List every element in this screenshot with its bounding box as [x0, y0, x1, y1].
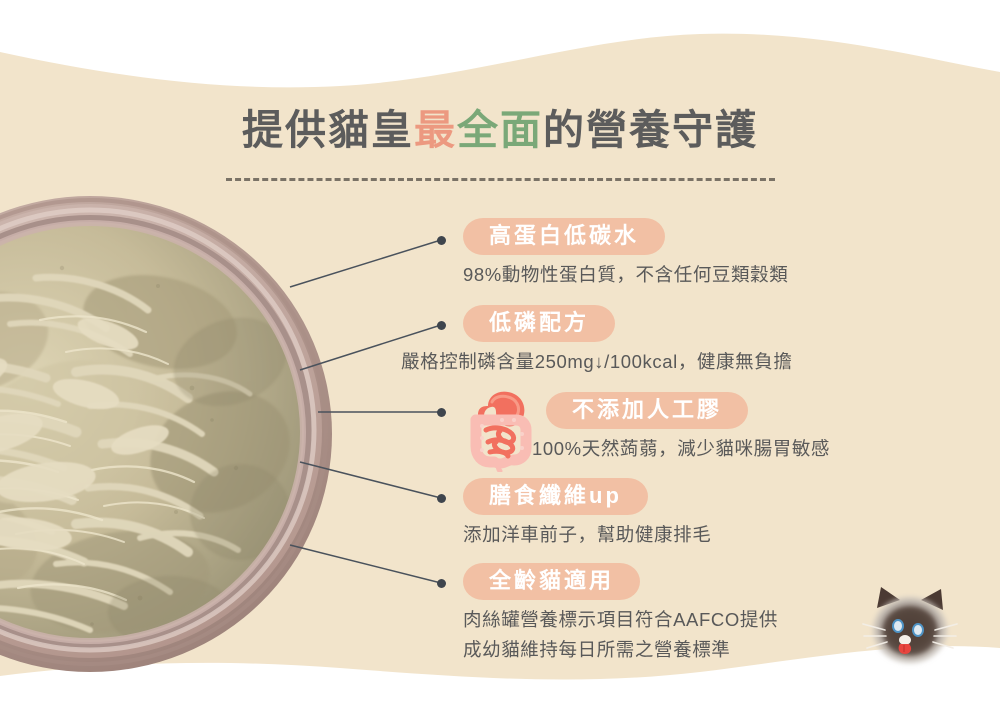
feature-item-4: 膳食纖維up 添加洋車前子，幫助健康排毛: [463, 478, 711, 549]
feature-desc-5b: 成幼貓維持每日所需之營養標準: [463, 636, 778, 664]
page-canvas: 提供貓皇最全面的營養守護: [0, 0, 1000, 725]
feature-item-5: 全齡貓適用 肉絲罐營養標示項目符合AAFCO提供 成幼貓維持每日所需之營養標準: [463, 563, 778, 664]
feature-badge-1: 高蛋白低碳水: [463, 218, 665, 255]
feature-desc-1: 98%動物性蛋白質，不含任何豆類穀類: [463, 261, 788, 289]
feature-item-3: 不添加人工膠 100%天然蒟蒻，減少貓咪腸胃敏感: [546, 392, 830, 463]
feature-item-1: 高蛋白低碳水 98%動物性蛋白質，不含任何豆類穀類: [463, 218, 788, 289]
feature-item-2: 低磷配方 嚴格控制磷含量250mg↓/100kcal，健康無負擔: [463, 305, 792, 376]
feature-badge-4: 膳食纖維up: [463, 478, 648, 515]
feature-badge-3: 不添加人工膠: [546, 392, 748, 429]
feature-badge-2: 低磷配方: [463, 305, 615, 342]
feature-desc-3: 100%天然蒟蒻，減少貓咪腸胃敏感: [532, 435, 830, 463]
feature-list: 高蛋白低碳水 98%動物性蛋白質，不含任何豆類穀類 低磷配方 嚴格控制磷含量25…: [0, 0, 1000, 725]
feature-badge-5: 全齡貓適用: [463, 563, 640, 600]
feature-desc-4: 添加洋車前子，幫助健康排毛: [463, 521, 711, 549]
feature-desc-2: 嚴格控制磷含量250mg↓/100kcal，健康無負擔: [401, 348, 792, 376]
feature-desc-5a: 肉絲罐營養標示項目符合AAFCO提供: [463, 606, 778, 634]
